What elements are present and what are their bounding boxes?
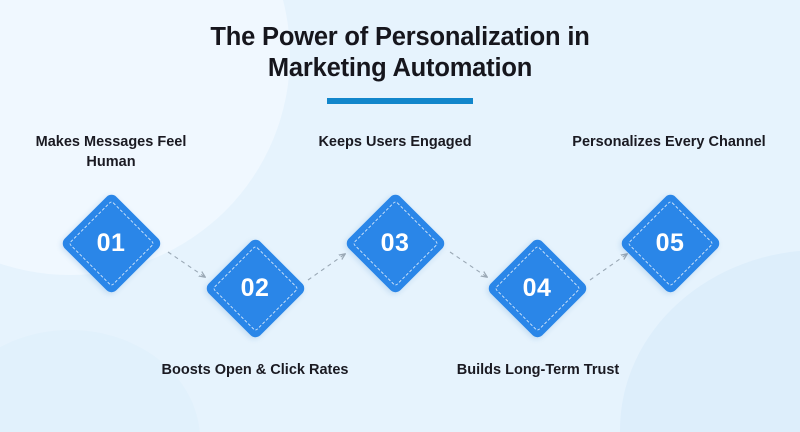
step-node-05[interactable]: 05 (619, 192, 721, 294)
step-caption-05: Personalizes Every Channel (569, 132, 769, 152)
step-caption-04: Builds Long-Term Trust (438, 360, 638, 380)
steps-flow: 01 Makes Messages Feel Human 02 Boosts O… (0, 0, 800, 432)
step-node-01[interactable]: 01 (60, 192, 162, 294)
step-number-04: 04 (486, 237, 588, 339)
step-number-01: 01 (60, 192, 162, 294)
step-number-03: 03 (344, 192, 446, 294)
step-caption-03: Keeps Users Engaged (295, 132, 495, 152)
step-number-05: 05 (619, 192, 721, 294)
step-number-02: 02 (204, 237, 306, 339)
step-node-04[interactable]: 04 (486, 237, 588, 339)
step-node-03[interactable]: 03 (344, 192, 446, 294)
step-caption-01: Makes Messages Feel Human (11, 132, 211, 172)
step-node-02[interactable]: 02 (204, 237, 306, 339)
infographic-canvas: The Power of Personalization in Marketin… (0, 0, 800, 432)
step-caption-02: Boosts Open & Click Rates (155, 360, 355, 380)
